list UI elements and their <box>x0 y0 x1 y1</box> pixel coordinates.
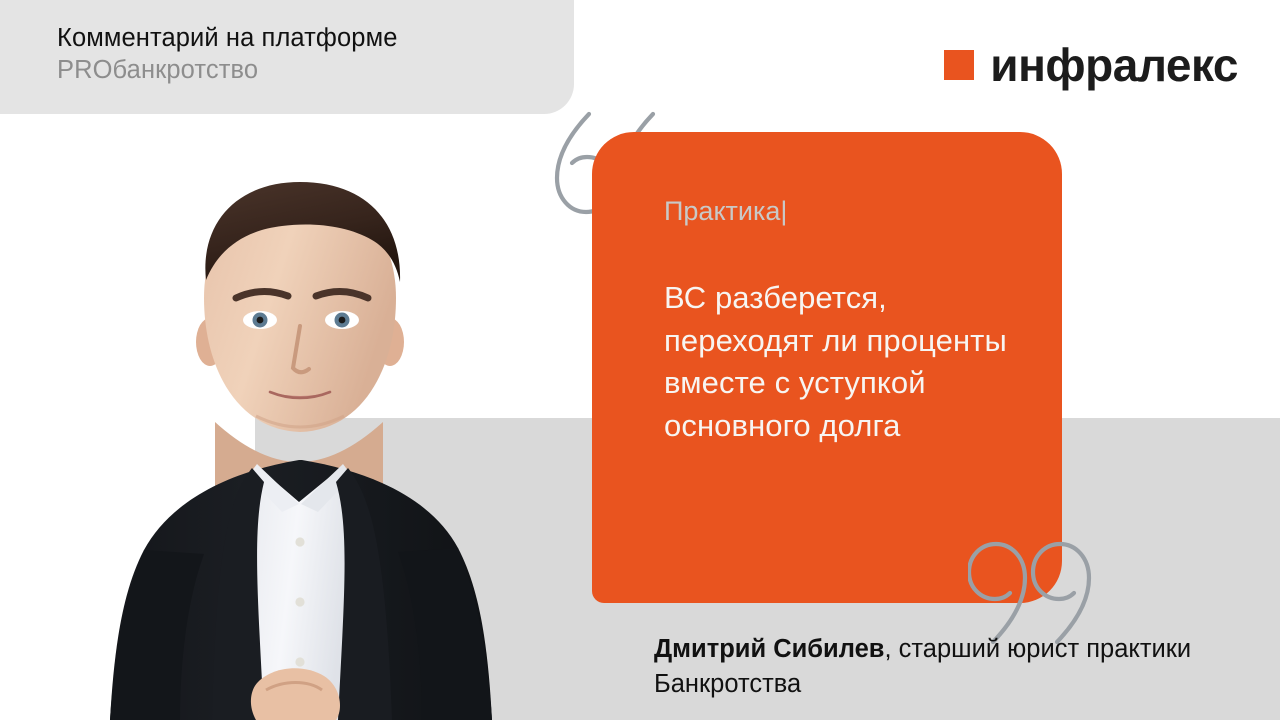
brand-logo: инфралекс <box>944 42 1238 88</box>
header-banner: Комментарий на платформе PROбанкротство <box>0 0 574 114</box>
brand-name: инфралекс <box>990 42 1238 88</box>
orange-square-icon <box>944 50 974 80</box>
header-title-line1: Комментарий на платформе <box>57 22 574 54</box>
person-portrait-photo <box>52 130 552 720</box>
card-kicker: Практика| <box>664 194 1022 228</box>
slide-canvas: Комментарий на платформе PROбанкротство … <box>0 0 1280 720</box>
attribution: Дмитрий Сибилев, старший юрист практики … <box>654 632 1214 702</box>
header-title-line2: PROбанкротство <box>57 54 574 86</box>
card-headline: ВС разберется, переходят ли проценты вме… <box>664 277 1022 447</box>
person-name: Дмитрий Сибилев <box>654 635 884 663</box>
